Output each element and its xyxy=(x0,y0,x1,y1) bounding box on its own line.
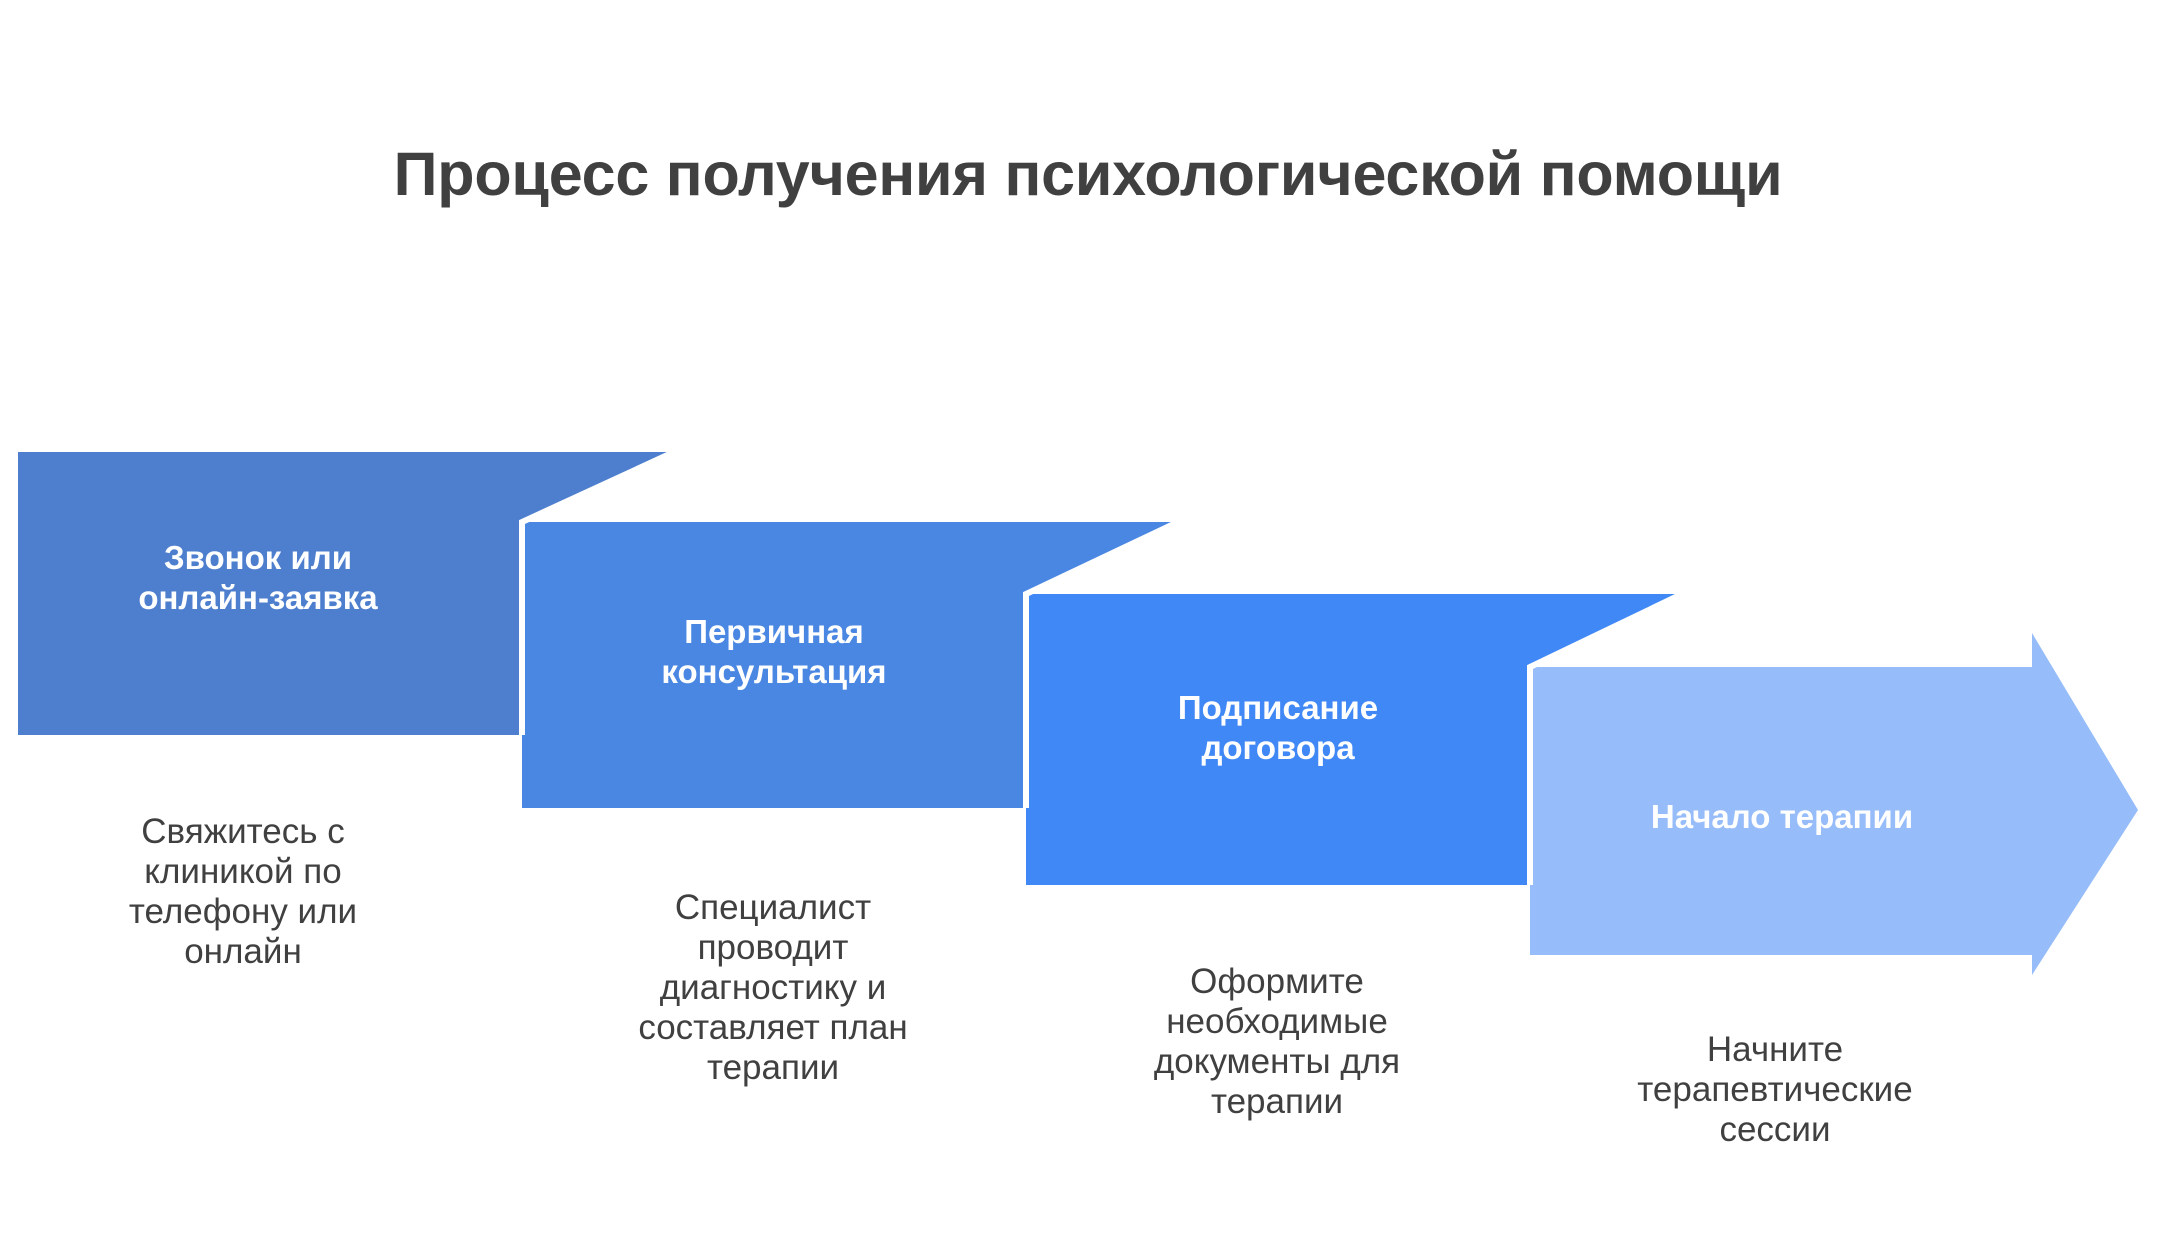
step-4-label: Начало терапии xyxy=(1530,797,2034,837)
step-4-caption: Начните терапевтические сессии xyxy=(1575,1030,1975,1150)
process-flow-diagram: Звонок или онлайн-заявка Первичная консу… xyxy=(0,0,2176,1256)
step-3-label: Подписание договора xyxy=(1026,688,1530,769)
step-3-caption: Оформите необходимые документы для терап… xyxy=(1082,962,1472,1122)
step-2-label: Первичная консультация xyxy=(522,612,1026,693)
step-1-caption: Свяжитесь с клиникой по телефону или онл… xyxy=(68,812,418,972)
step-1-label: Звонок или онлайн-заявка xyxy=(18,538,498,619)
step-2-caption: Специалист проводит диагностику и состав… xyxy=(578,888,968,1087)
slide-canvas: Процесс получения психологической помощи… xyxy=(0,0,2176,1256)
